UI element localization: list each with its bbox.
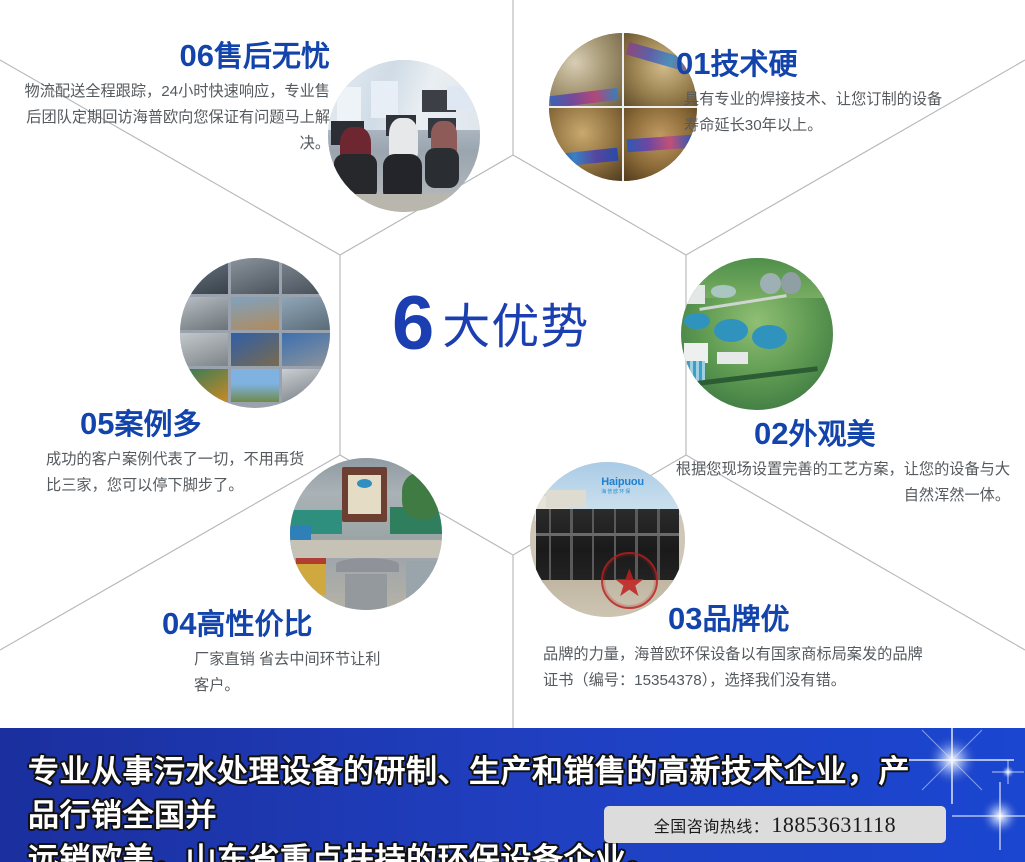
photo-case-projects-grid [180, 258, 330, 408]
feature-01-heading: 01技术硬 [676, 48, 976, 80]
trademark-stamp-icon [601, 552, 658, 609]
feature-05-number: 05 [80, 406, 114, 441]
feature-01-title: 技术硬 [710, 49, 797, 81]
feature-05: 05案例多 成功的客户案例代表了一切，不用再货比三家，您可以停下脚步了。 [80, 408, 350, 499]
feature-03-title: 品牌优 [702, 604, 789, 636]
feature-06-body: 物流配送全程跟踪，24小时快速响应，专业售后团队定期回访海普欧向您保证有问题马上… [10, 79, 330, 157]
brand-cn-text: 海普欧环保 [601, 488, 672, 495]
infographic-page: Haipuou 海普欧环保 6大优势 06售后无忧 物流配送全程跟踪，24小时快… [0, 0, 1025, 862]
feature-03-number: 03 [668, 601, 702, 636]
feature-04-heading: 04高性价比 [162, 608, 442, 640]
feature-02-number: 02 [754, 416, 788, 451]
feature-01-number: 01 [676, 46, 710, 81]
feature-05-title: 案例多 [114, 409, 201, 441]
center-number: 6 [392, 281, 434, 366]
feature-06: 06售后无忧 物流配送全程跟踪，24小时快速响应，专业售后团队定期回访海普欧向您… [10, 40, 330, 157]
hotline-number: 18853631118 [771, 812, 896, 838]
photo-aerial-treatment-plant [681, 258, 833, 410]
feature-01: 01技术硬 具有专业的焊接技术、让您订制的设备寿命延长30年以上。 [676, 48, 976, 139]
hotline-label: 全国咨询热线： [654, 813, 770, 837]
photo-black-tank-equipment: Haipuou 海普欧环保 [530, 462, 685, 617]
feature-01-body: 具有专业的焊接技术、让您订制的设备寿命延长30年以上。 [676, 87, 946, 139]
feature-02: 02外观美 根据您现场设置完善的工艺方案，让您的设备与大自然浑然一体。 [672, 418, 1010, 509]
brand-watermark: Haipuou 海普欧环保 [601, 476, 672, 495]
photo-welding-seams-collage [549, 33, 697, 181]
feature-06-heading: 06售后无忧 [10, 40, 330, 72]
feature-02-body: 根据您现场设置完善的工艺方案，让您的设备与大自然浑然一体。 [672, 457, 1010, 509]
feature-06-title: 售后无忧 [214, 41, 330, 73]
center-title: 6大优势 [392, 286, 642, 381]
feature-05-body: 成功的客户案例代表了一切，不用再货比三家，您可以停下脚步了。 [46, 447, 308, 499]
feature-06-number: 06 [180, 38, 214, 73]
hotline-box[interactable]: 全国咨询热线： 18853631118 [604, 806, 946, 843]
center-label: 大优势 [434, 301, 589, 354]
feature-04-number: 04 [162, 606, 196, 641]
photo-office-staff-at-computers [328, 60, 480, 212]
feature-04-body: 厂家直销 省去中间环节让利客户。 [162, 647, 394, 699]
feature-03-heading: 03品牌优 [543, 603, 943, 635]
feature-04-title: 高性价比 [196, 609, 312, 641]
brand-latin-text: Haipuou [601, 476, 672, 488]
feature-04: 04高性价比 厂家直销 省去中间环节让利客户。 [162, 608, 442, 699]
feature-03-body: 品牌的力量，海普欧环保设备以有国家商标局案发的品牌证书（编号：15354378）… [543, 642, 935, 694]
feature-02-heading: 02外观美 [672, 418, 1010, 450]
feature-05-heading: 05案例多 [80, 408, 350, 440]
feature-02-title: 外观美 [788, 419, 875, 451]
feature-03: 03品牌优 品牌的力量，海普欧环保设备以有国家商标局案发的品牌证书（编号：153… [543, 603, 943, 694]
